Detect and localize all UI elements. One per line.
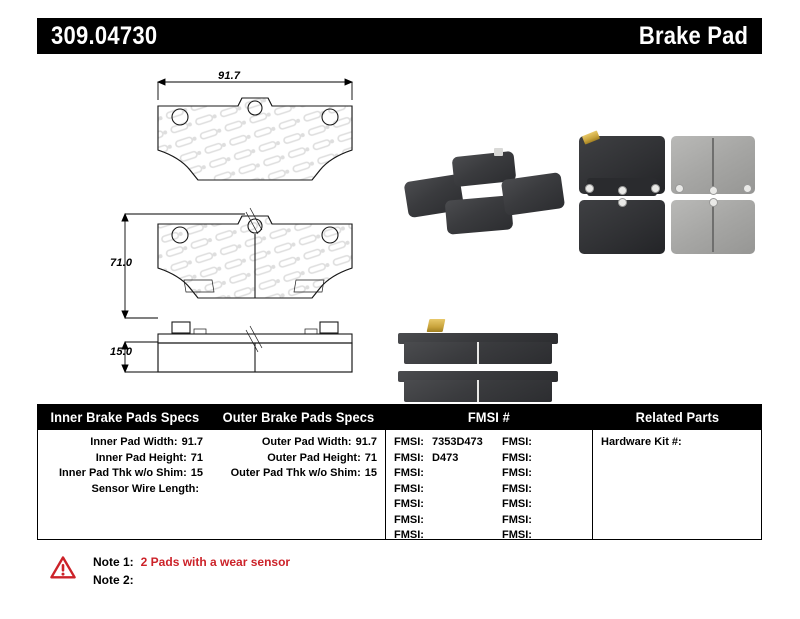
fmsi-label: FMSI: xyxy=(394,467,424,479)
fmsi-column-b: FMSI: FMSI: FMSI: FMSI: FMSI: FMSI: xyxy=(502,435,592,544)
spec-label: Inner Pad Height: xyxy=(96,451,187,467)
fmsi-row: FMSI: xyxy=(502,482,592,498)
spec-row: Outer Pad Width: 91.7 xyxy=(211,435,385,451)
fmsi-row: FMSI: xyxy=(394,466,502,482)
page-title: Brake Pad xyxy=(639,22,748,51)
notes-section: Note 1: 2 Pads with a wear sensor Note 2… xyxy=(50,553,470,598)
photo-pads-grid xyxy=(575,128,760,258)
note-label: Note 2: xyxy=(93,571,134,589)
fmsi-label: FMSI: xyxy=(502,483,532,495)
spec-row: Inner Pad Height: 71 xyxy=(38,451,211,467)
table-header-inner-label: Inner Brake Pads Specs xyxy=(50,409,199,425)
spec-label: Outer Pad Thk w/o Shim: xyxy=(231,466,361,482)
fmsi-label: FMSI: xyxy=(394,483,424,495)
technical-drawing-front-view xyxy=(150,206,360,331)
fmsi-value: 7353D473 xyxy=(432,436,483,448)
fmsi-label: FMSI: xyxy=(502,436,532,448)
related-row: Hardware Kit #: xyxy=(601,435,769,451)
fmsi-label: FMSI: xyxy=(502,498,532,510)
note-label: Note 1: xyxy=(93,553,134,571)
fmsi-label: FMSI: xyxy=(394,514,424,526)
spec-value: 71 xyxy=(365,451,377,467)
photo-pads-angled xyxy=(398,136,568,248)
spec-row: Inner Pad Width: 91.7 xyxy=(38,435,211,451)
spec-value: 71 xyxy=(191,451,203,467)
warning-triangle-icon xyxy=(50,556,76,579)
spec-label: Inner Pad Thk w/o Shim: xyxy=(59,466,187,482)
fmsi-label: FMSI: xyxy=(502,467,532,479)
fmsi-row: FMSI: xyxy=(502,513,592,529)
spec-row: Outer Pad Height: 71 xyxy=(211,451,385,467)
fmsi-row: FMSI: xyxy=(394,513,502,529)
spec-value: 15 xyxy=(365,466,377,482)
fmsi-row: FMSI: xyxy=(502,435,592,451)
spec-value: 91.7 xyxy=(182,435,203,451)
inner-specs-list: Inner Pad Width: 91.7 Inner Pad Height: … xyxy=(38,435,211,497)
fmsi-value: D473 xyxy=(432,452,458,464)
fmsi-label: FMSI: xyxy=(502,514,532,526)
spec-value: 15 xyxy=(191,466,203,482)
fmsi-row: FMSI: xyxy=(502,497,592,513)
dimension-label-thickness: 15.0 xyxy=(110,346,132,358)
table-header-outer-specs: Outer Brake Pads Specs xyxy=(211,404,385,430)
fmsi-row: FMSI: 7353D473 xyxy=(394,435,502,451)
spec-label: Outer Pad Width: xyxy=(262,435,352,451)
illustration-area: 91.7 71.0 15.0 xyxy=(0,58,800,398)
dimension-label-height: 71.0 xyxy=(110,257,132,269)
spec-row: Sensor Wire Length: xyxy=(38,482,211,498)
part-number: 309.04730 xyxy=(51,22,157,51)
fmsi-row: FMSI: xyxy=(394,528,502,544)
fmsi-row: FMSI: xyxy=(394,482,502,498)
note-line: Note 2: xyxy=(93,571,290,589)
spec-label: Inner Pad Width: xyxy=(90,435,177,451)
specifications-table: Inner Brake Pads Specs Outer Brake Pads … xyxy=(37,404,762,540)
outer-specs-list: Outer Pad Width: 91.7 Outer Pad Height: … xyxy=(211,435,385,482)
wear-sensor-tab-icon xyxy=(494,148,503,156)
fmsi-lists: FMSI: 7353D473 FMSI: D473 FMSI: FMSI: FM… xyxy=(386,435,592,544)
spec-label: Outer Pad Height: xyxy=(267,451,361,467)
spec-label: Sensor Wire Length: xyxy=(92,482,199,498)
fmsi-row: FMSI: D473 xyxy=(394,451,502,467)
table-header-inner-specs: Inner Brake Pads Specs xyxy=(38,404,211,430)
fmsi-row: FMSI: xyxy=(502,451,592,467)
fmsi-label: FMSI: xyxy=(394,452,424,464)
technical-drawing-top-view xyxy=(150,68,360,193)
fmsi-label: FMSI: xyxy=(394,529,424,541)
fmsi-label: FMSI: xyxy=(502,452,532,464)
table-header-outer-label: Outer Brake Pads Specs xyxy=(222,409,374,425)
spec-value: 91.7 xyxy=(356,435,377,451)
technical-drawing-side-view xyxy=(150,320,360,380)
fmsi-row: FMSI: xyxy=(502,528,592,544)
fmsi-label: FMSI: xyxy=(394,436,424,448)
note-line: Note 1: 2 Pads with a wear sensor xyxy=(93,553,290,571)
fmsi-label: FMSI: xyxy=(502,529,532,541)
related-parts-list: Hardware Kit #: xyxy=(593,435,769,451)
related-label: Hardware Kit #: xyxy=(601,436,682,448)
table-header-related-label: Related Parts xyxy=(635,409,719,425)
table-header-fmsi-label: FMSI # xyxy=(468,409,510,425)
table-header-fmsi: FMSI # xyxy=(386,404,592,430)
fmsi-label: FMSI: xyxy=(394,498,424,510)
table-header-related-parts: Related Parts xyxy=(593,404,761,430)
header-bar: 309.04730 Brake Pad xyxy=(37,18,762,54)
fmsi-column-a: FMSI: 7353D473 FMSI: D473 FMSI: FMSI: FM… xyxy=(386,435,502,544)
photo-pads-edge xyxy=(398,313,573,408)
fmsi-row: FMSI: xyxy=(502,466,592,482)
spec-row: Inner Pad Thk w/o Shim: 15 xyxy=(38,466,211,482)
note-lines: Note 1: 2 Pads with a wear sensor Note 2… xyxy=(93,553,290,589)
fmsi-row: FMSI: xyxy=(394,497,502,513)
spec-row: Outer Pad Thk w/o Shim: 15 xyxy=(211,466,385,482)
note-text: 2 Pads with a wear sensor xyxy=(141,553,290,571)
